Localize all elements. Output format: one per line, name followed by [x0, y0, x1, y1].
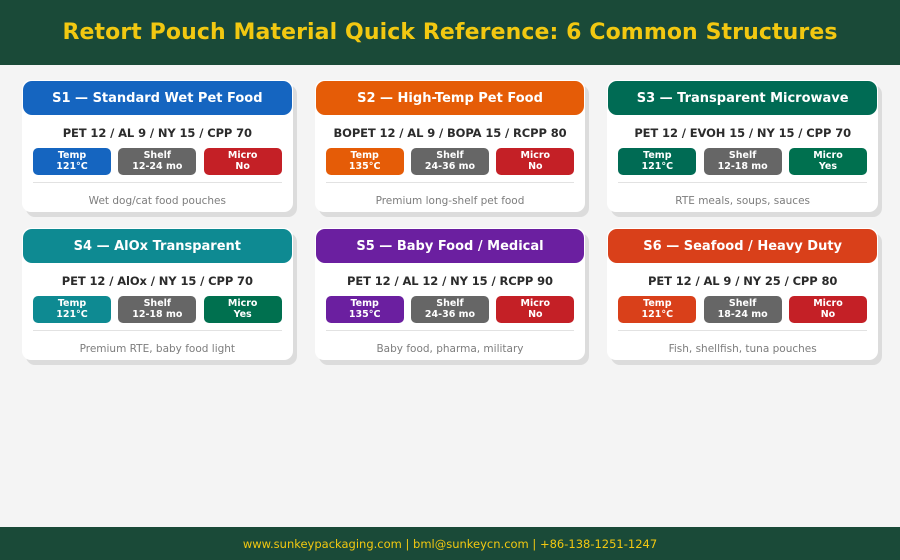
shelf-badge: Shelf12-18 mo: [704, 148, 782, 175]
temp-badge: Temp121°C: [618, 148, 696, 175]
card-divider: [618, 182, 867, 183]
shelf-badge-value: 24-36 mo: [425, 310, 475, 320]
shelf-badge-value: 12-18 mo: [132, 310, 182, 320]
material-structure: PET 12 / AL 9 / NY 15 / CPP 70: [33, 126, 282, 140]
shelf-badge-value: 18-24 mo: [718, 310, 768, 320]
card-body: PET 12 / AL 9 / NY 15 / CPP 70Temp121°CS…: [22, 115, 293, 212]
temp-badge: Temp121°C: [618, 296, 696, 323]
micro-badge: MicroNo: [496, 296, 574, 323]
spec-badge-row: Temp121°CShelf18-24 moMicroNo: [618, 296, 867, 323]
shelf-badge-value: 24-36 mo: [425, 162, 475, 172]
temp-badge-value: 121°C: [642, 162, 674, 172]
micro-badge: MicroYes: [204, 296, 282, 323]
material-structure: BOPET 12 / AL 9 / BOPA 15 / RCPP 80: [326, 126, 575, 140]
footer-website: www.sunkeypackaging.com: [243, 537, 402, 551]
temp-badge-value: 135°C: [349, 310, 381, 320]
card-title: S2 — High-Temp Pet Food: [351, 91, 549, 106]
card-header: S4 — AlOx Transparent: [23, 229, 292, 263]
card-header: S3 — Transparent Microwave: [608, 81, 877, 115]
micro-badge: MicroNo: [496, 148, 574, 175]
temp-badge-value: 121°C: [56, 310, 88, 320]
use-case-text: RTE meals, soups, sauces: [618, 195, 867, 207]
card-body: PET 12 / AL 9 / NY 25 / CPP 80Temp121°CS…: [607, 263, 878, 360]
temp-badge: Temp121°C: [33, 296, 111, 323]
micro-badge-label: Micro: [228, 299, 258, 309]
temp-badge-label: Temp: [643, 151, 671, 161]
use-case-text: Premium RTE, baby food light: [33, 343, 282, 355]
material-card: S2 — High-Temp Pet FoodBOPET 12 / AL 9 /…: [315, 80, 586, 212]
use-case-text: Baby food, pharma, military: [326, 343, 575, 355]
micro-badge-label: Micro: [521, 151, 551, 161]
shelf-badge-value: 12-18 mo: [718, 162, 768, 172]
card-header: S6 — Seafood / Heavy Duty: [608, 229, 877, 263]
shelf-badge: Shelf18-24 mo: [704, 296, 782, 323]
footer-separator-1: |: [402, 537, 413, 551]
temp-badge: Temp135°C: [326, 148, 404, 175]
card-divider: [33, 330, 282, 331]
shelf-badge-label: Shelf: [436, 151, 463, 161]
micro-badge-label: Micro: [228, 151, 258, 161]
material-card: S6 — Seafood / Heavy DutyPET 12 / AL 9 /…: [607, 228, 878, 360]
temp-badge-label: Temp: [58, 151, 86, 161]
card-header: S5 — Baby Food / Medical: [316, 229, 585, 263]
card-title: S4 — AlOx Transparent: [68, 239, 247, 254]
page-title: Retort Pouch Material Quick Reference: 6…: [62, 20, 837, 45]
card-body: BOPET 12 / AL 9 / BOPA 15 / RCPP 80Temp1…: [315, 115, 586, 212]
temp-badge-value: 135°C: [349, 162, 381, 172]
temp-badge-value: 121°C: [642, 310, 674, 320]
card-title: S6 — Seafood / Heavy Duty: [637, 239, 848, 254]
material-card: S3 — Transparent MicrowavePET 12 / EVOH …: [607, 80, 878, 212]
card-body: PET 12 / AL 12 / NY 15 / RCPP 90Temp135°…: [315, 263, 586, 360]
temp-badge-value: 121°C: [56, 162, 88, 172]
micro-badge-label: Micro: [813, 299, 843, 309]
shelf-badge: Shelf12-18 mo: [118, 296, 196, 323]
temp-badge-label: Temp: [350, 299, 378, 309]
material-card: S1 — Standard Wet Pet FoodPET 12 / AL 9 …: [22, 80, 293, 212]
micro-badge-value: Yes: [819, 162, 837, 172]
micro-badge-value: Yes: [234, 310, 252, 320]
card-grid: S1 — Standard Wet Pet FoodPET 12 / AL 9 …: [0, 65, 900, 360]
footer-email: bml@sunkeycn.com: [413, 537, 529, 551]
card-header: S1 — Standard Wet Pet Food: [23, 81, 292, 115]
temp-badge: Temp135°C: [326, 296, 404, 323]
micro-badge: MicroYes: [789, 148, 867, 175]
footer-phone: +86-138-1251-1247: [540, 537, 657, 551]
shelf-badge: Shelf24-36 mo: [411, 148, 489, 175]
card-title: S5 — Baby Food / Medical: [350, 239, 549, 254]
shelf-badge-value: 12-24 mo: [132, 162, 182, 172]
page-footer: www.sunkeypackaging.com | bml@sunkeycn.c…: [0, 527, 900, 560]
card-header: S2 — High-Temp Pet Food: [316, 81, 585, 115]
micro-badge-value: No: [528, 162, 542, 172]
spec-badge-row: Temp121°CShelf12-24 moMicroNo: [33, 148, 282, 175]
card-divider: [326, 182, 575, 183]
card-title: S3 — Transparent Microwave: [631, 91, 855, 106]
shelf-badge: Shelf12-24 mo: [118, 148, 196, 175]
material-structure: PET 12 / AL 9 / NY 25 / CPP 80: [618, 274, 867, 288]
card-body: PET 12 / AlOx / NY 15 / CPP 70Temp121°CS…: [22, 263, 293, 360]
shelf-badge-label: Shelf: [436, 299, 463, 309]
shelf-badge-label: Shelf: [144, 151, 171, 161]
micro-badge: MicroNo: [204, 148, 282, 175]
micro-badge-label: Micro: [813, 151, 843, 161]
temp-badge-label: Temp: [350, 151, 378, 161]
footer-contact-line: www.sunkeypackaging.com | bml@sunkeycn.c…: [243, 537, 657, 551]
card-title: S1 — Standard Wet Pet Food: [46, 91, 268, 106]
temp-badge: Temp121°C: [33, 148, 111, 175]
footer-separator-2: |: [529, 537, 540, 551]
card-body: PET 12 / EVOH 15 / NY 15 / CPP 70Temp121…: [607, 115, 878, 212]
micro-badge-label: Micro: [521, 299, 551, 309]
use-case-text: Wet dog/cat food pouches: [33, 195, 282, 207]
card-divider: [33, 182, 282, 183]
spec-badge-row: Temp121°CShelf12-18 moMicroYes: [618, 148, 867, 175]
spec-badge-row: Temp135°CShelf24-36 moMicroNo: [326, 296, 575, 323]
micro-badge-value: No: [528, 310, 542, 320]
micro-badge: MicroNo: [789, 296, 867, 323]
material-structure: PET 12 / EVOH 15 / NY 15 / CPP 70: [618, 126, 867, 140]
use-case-text: Premium long-shelf pet food: [326, 195, 575, 207]
material-card: S4 — AlOx TransparentPET 12 / AlOx / NY …: [22, 228, 293, 360]
shelf-badge-label: Shelf: [729, 151, 756, 161]
temp-badge-label: Temp: [643, 299, 671, 309]
micro-badge-value: No: [235, 162, 249, 172]
page-header: Retort Pouch Material Quick Reference: 6…: [0, 0, 900, 65]
material-structure: PET 12 / AL 12 / NY 15 / RCPP 90: [326, 274, 575, 288]
shelf-badge-label: Shelf: [144, 299, 171, 309]
shelf-badge-label: Shelf: [729, 299, 756, 309]
spec-badge-row: Temp135°CShelf24-36 moMicroNo: [326, 148, 575, 175]
temp-badge-label: Temp: [58, 299, 86, 309]
card-divider: [618, 330, 867, 331]
spec-badge-row: Temp121°CShelf12-18 moMicroYes: [33, 296, 282, 323]
micro-badge-value: No: [821, 310, 835, 320]
use-case-text: Fish, shellfish, tuna pouches: [618, 343, 867, 355]
shelf-badge: Shelf24-36 mo: [411, 296, 489, 323]
material-structure: PET 12 / AlOx / NY 15 / CPP 70: [33, 274, 282, 288]
material-card: S5 — Baby Food / MedicalPET 12 / AL 12 /…: [315, 228, 586, 360]
card-divider: [326, 330, 575, 331]
